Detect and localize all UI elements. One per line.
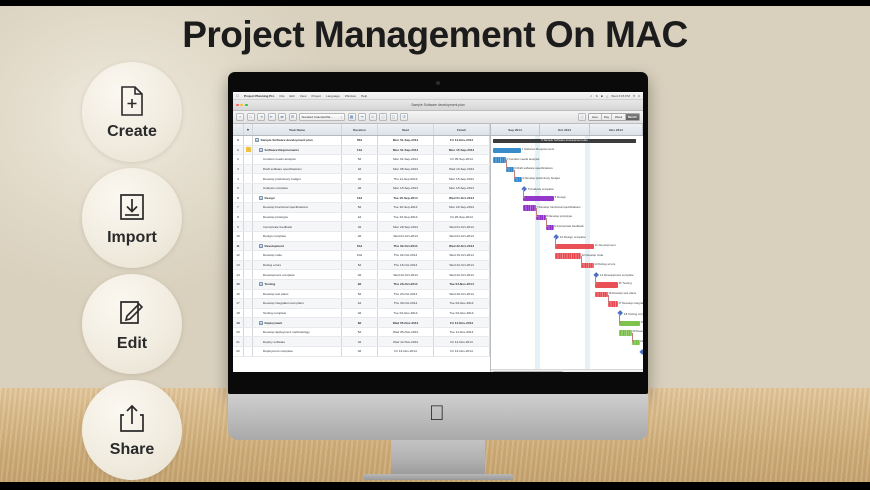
row-task-name[interactable]: Debug errors: [253, 261, 342, 270]
table-row[interactable]: 11-Development15dThu 02-Oct-2014Wed 22-O…: [233, 242, 490, 252]
row-duration[interactable]: 0d: [342, 184, 378, 193]
volume-icon[interactable]: ♫: [590, 94, 592, 98]
refresh-icon[interactable]: ↺: [400, 113, 408, 121]
row-duration[interactable]: 0d: [342, 309, 378, 318]
gantt-bar-label: 8 Develop prototype: [546, 214, 572, 218]
row-start[interactable]: Thu 23-Oct-2014: [378, 280, 434, 289]
row-duration[interactable]: 3d: [342, 165, 378, 174]
row-duration[interactable]: 5d: [342, 328, 378, 337]
row-id: 10: [233, 232, 244, 241]
row-duration[interactable]: 11d: [342, 146, 378, 155]
action-share[interactable]: Share: [82, 380, 182, 480]
timescale-segmented-control[interactable]: Hour Day Week Month: [588, 113, 640, 121]
letterbox-bottom: [0, 482, 870, 490]
disclosure-toggle-icon[interactable]: -: [259, 321, 263, 325]
menubar-app-name[interactable]: Project Planning Pro: [244, 94, 274, 98]
row-start[interactable]: Tue 16-Sep-2014: [378, 203, 434, 212]
row-duration[interactable]: 4d: [342, 299, 378, 308]
table-row[interactable]: 13Debug errors5dThu 16-Oct-2014Wed 22-Oc…: [233, 261, 490, 271]
row-start[interactable]: Tue 23-Sep-2014: [378, 213, 434, 222]
camera-icon: [436, 81, 440, 85]
table-row[interactable]: 6-Design12dTue 16-Sep-2014Wed 01-Oct-201…: [233, 194, 490, 204]
menu-window[interactable]: Window: [345, 94, 356, 98]
disclosure-toggle-icon[interactable]: -: [259, 148, 263, 152]
gantt-bar-label: 1 Software Requirements: [522, 147, 555, 151]
apple-menu-icon[interactable]: : [236, 94, 239, 98]
calendar-select[interactable]: Standard Calendar/Da... ⋮: [299, 113, 345, 121]
row-duration[interactable]: 8d: [342, 318, 378, 327]
search-icon[interactable]: ⚲: [633, 94, 635, 98]
row-id: 22: [233, 347, 244, 356]
row-finish[interactable]: Wed 10-Sep-2014: [434, 165, 490, 174]
table-row[interactable]: 20Develop deployment methodology5dWed 05…: [233, 328, 490, 338]
timeline-oct-2014: Oct 2014: [540, 124, 590, 135]
row-duration[interactable]: 3d: [342, 222, 378, 231]
row-task-name[interactable]: Develop deployment methodology: [253, 328, 342, 337]
row-indicator: [244, 347, 253, 356]
mac-menubar:  Project Planning Pro File Edit View Pr…: [233, 92, 643, 100]
menu-view[interactable]: View: [300, 94, 307, 98]
gantt-bar-label: 9 Incorporate feedback: [554, 224, 584, 228]
note-icon[interactable]: ▯: [390, 113, 398, 121]
gantt-bar-label: 16 Develop test plans: [608, 291, 636, 295]
action-label: Import: [107, 229, 157, 247]
row-id: 0: [233, 136, 244, 145]
gantt-summary-bar[interactable]: 19 Deployment: [619, 321, 640, 326]
row-start[interactable]: Wed 12-Nov-2014: [378, 337, 434, 346]
row-duration[interactable]: 15d: [342, 242, 378, 251]
row-finish[interactable]: Tue 11-Nov-2014: [434, 328, 490, 337]
row-finish[interactable]: Fri 05-Sep-2014: [434, 155, 490, 164]
column-finish[interactable]: Finish: [434, 124, 490, 135]
row-finish[interactable]: Fri 14-Nov-2014: [434, 347, 490, 356]
export-icon[interactable]: ➞: [358, 113, 366, 121]
row-start[interactable]: Wed 01-Oct-2014: [378, 232, 434, 241]
gantt-dependency-link: [555, 237, 557, 246]
weekend-shading: [535, 136, 540, 372]
menu-language[interactable]: Language: [326, 94, 340, 98]
table-row[interactable]: 10Design complete0dWed 01-Oct-2014Wed 01…: [233, 232, 490, 242]
app-toolbar: + □ ⇥ ⇤ ⇄ ⚙ Standard Calendar/Da... ⋮ ▦ …: [233, 111, 643, 124]
row-id: 11: [233, 242, 244, 251]
row-start[interactable]: Mon 01-Sep-2014: [378, 146, 434, 155]
zoom-info-icon[interactable]: ⓘ: [578, 113, 586, 121]
row-start[interactable]: Tue 04-Nov-2014: [378, 309, 434, 318]
row-duration[interactable]: 3d: [342, 174, 378, 183]
column-id: [233, 124, 244, 135]
row-task-name[interactable]: Conduct needs analysis: [253, 155, 342, 164]
row-start[interactable]: Wed 22-Oct-2014: [378, 270, 434, 279]
row-id: 15: [233, 280, 244, 289]
row-task-name[interactable]: Deploy software: [253, 337, 342, 346]
row-start[interactable]: Thu 23-Oct-2014: [378, 290, 434, 299]
row-task-name[interactable]: Development complete: [253, 270, 342, 279]
menu-icon[interactable]: ≡: [638, 94, 640, 98]
gantt-summary-bar[interactable]: 1 Software Requirements: [493, 148, 521, 153]
timescale-week[interactable]: Week: [612, 114, 625, 120]
column-indicator: ⚑: [244, 124, 253, 135]
gantt-milestone[interactable]: [639, 349, 643, 355]
row-task-name[interactable]: -Sample Software development plan: [253, 136, 342, 145]
info-icon[interactable]: ⓘ: [379, 113, 387, 121]
row-id: 5: [233, 184, 244, 193]
row-indicator: [244, 136, 253, 145]
timescale-hour[interactable]: Hour: [589, 114, 601, 120]
row-indicator: [244, 309, 253, 318]
row-start[interactable]: Thu 02-Oct-2014: [378, 251, 434, 260]
row-finish[interactable]: Fri 14-Nov-2014: [434, 136, 490, 145]
row-finish[interactable]: Wed 22-Oct-2014: [434, 242, 490, 251]
imac-chin: : [228, 394, 648, 440]
action-create[interactable]: Create: [82, 62, 182, 162]
row-task-name[interactable]: Incorporate feedback: [253, 222, 342, 231]
row-finish[interactable]: Mon 15-Sep-2014: [434, 146, 490, 155]
gantt-bar-label: 4 Develop preliminary budget: [522, 176, 560, 180]
table-row[interactable]: 7Develop functional specifications5dTue …: [233, 203, 490, 213]
row-start[interactable]: Mon 01-Sep-2014: [378, 155, 434, 164]
table-row[interactable]: 4Develop preliminary budget3dThu 11-Sep-…: [233, 174, 490, 184]
gantt-bar-label: 17 Develop integration test plans: [618, 301, 643, 305]
row-finish[interactable]: Wed 29-Oct-2014: [434, 290, 490, 299]
row-start[interactable]: Wed 05-Nov-2014: [378, 328, 434, 337]
gantt-bar-label: 12 Develop code: [582, 253, 604, 257]
gantt-summary-bar[interactable]: 0 Sample Software development plan: [493, 139, 636, 143]
row-task-name[interactable]: Draft software specifications: [253, 165, 342, 174]
action-import[interactable]: Import: [82, 168, 182, 268]
gantt-body[interactable]: 0 Sample Software development plan1 Soft…: [491, 136, 643, 372]
row-task-name[interactable]: -Design: [253, 194, 342, 203]
row-indicator: [244, 203, 253, 212]
action-label: Share: [110, 441, 154, 459]
row-duration[interactable]: 0d: [342, 347, 378, 356]
row-finish[interactable]: Fri 26-Sep-2014: [434, 213, 490, 222]
gantt-bar-label: 19 Deployment: [640, 320, 643, 324]
row-id: 3: [233, 165, 244, 174]
gantt-dependency-link: [595, 276, 597, 285]
table-row[interactable]: 17Develop integration test plans4dThu 30…: [233, 299, 490, 309]
row-finish[interactable]: Wed 01-Oct-2014: [434, 222, 490, 231]
row-indicator: [244, 337, 253, 346]
gantt-bar-label: 7 Develop functional specifications: [536, 205, 580, 209]
row-duration[interactable]: 5d: [342, 203, 378, 212]
app-workspace: ⚑ Task Name Duration Start Finish 0-Samp…: [233, 124, 643, 372]
table-row[interactable]: 12Develop code10dThu 02-Oct-2014Wed 15-O…: [233, 251, 490, 261]
calendar-select-value: Standard Calendar/Da...: [302, 115, 333, 119]
gantt-task-bar[interactable]: 20 Develop deployment methodology: [619, 330, 632, 335]
indent-icon[interactable]: ⇥: [257, 113, 265, 121]
gantt-dependency-link: [632, 333, 634, 342]
row-start[interactable]: Tue 16-Sep-2014: [378, 194, 434, 203]
link-icon[interactable]: ⇄: [278, 113, 286, 121]
row-start[interactable]: Thu 16-Oct-2014: [378, 261, 434, 270]
menu-project[interactable]: Project: [311, 94, 321, 98]
row-indicator: [244, 184, 253, 193]
gantt-bar-label: 15 Testing: [618, 281, 631, 285]
row-start[interactable]: Thu 02-Oct-2014: [378, 242, 434, 251]
row-duration[interactable]: 12d: [342, 194, 378, 203]
row-task-name[interactable]: Analysis complete: [253, 184, 342, 193]
timescale-day[interactable]: Day: [602, 114, 613, 120]
row-indicator: [244, 270, 253, 279]
row-duration[interactable]: 10d: [342, 251, 378, 260]
row-id: 14: [233, 270, 244, 279]
row-task-name[interactable]: Develop integration test plans: [253, 299, 342, 308]
table-row[interactable]: 5Analysis complete0dMon 15-Sep-2014Mon 1…: [233, 184, 490, 194]
gantt-bar-label: 14 Development complete: [600, 273, 634, 277]
settings-gear-icon[interactable]: ⚙: [289, 113, 297, 121]
row-start[interactable]: Thu 11-Sep-2014: [378, 174, 434, 183]
row-id: 17: [233, 299, 244, 308]
row-duration[interactable]: 4d: [342, 213, 378, 222]
outdent-icon[interactable]: ⇤: [268, 113, 276, 121]
row-finish[interactable]: Wed 01-Oct-2014: [434, 194, 490, 203]
row-indicator: [244, 165, 253, 174]
disclosure-toggle-icon[interactable]: -: [259, 244, 263, 248]
row-id: 19: [233, 318, 244, 327]
row-task-name[interactable]: Develop preliminary budget: [253, 174, 342, 183]
row-task-name[interactable]: Design complete: [253, 232, 342, 241]
row-id: 9: [233, 222, 244, 231]
page-title: Project Management On MAC: [0, 14, 870, 56]
row-start[interactable]: Mon 01-Sep-2014: [378, 136, 434, 145]
row-indicator: [244, 155, 253, 164]
row-finish[interactable]: Fri 14-Nov-2014: [434, 337, 490, 346]
gantt-bar-label: 18 Testing complete: [624, 312, 643, 316]
imac-bezel:  Project Planning Pro File Edit View Pr…: [228, 72, 648, 394]
menu-edit[interactable]: Edit: [289, 94, 294, 98]
row-id: 13: [233, 261, 244, 270]
imac-mockup:  Project Planning Pro File Edit View Pr…: [228, 72, 648, 480]
row-id: 4: [233, 174, 244, 183]
column-start[interactable]: Start: [378, 124, 434, 135]
gantt-bar-label: 5 Analysis complete: [528, 187, 554, 191]
window-titlebar: Sample Software development plan: [233, 100, 643, 111]
row-task-name[interactable]: -Deployment: [253, 318, 342, 327]
table-row[interactable]: 3Draft software specifications3dMon 08-S…: [233, 165, 490, 175]
gantt-task-bar[interactable]: 2 Conduct needs analysis: [493, 157, 506, 162]
row-start[interactable]: Mon 15-Sep-2014: [378, 184, 434, 193]
table-header: ⚑ Task Name Duration Start Finish: [233, 124, 490, 136]
table-row[interactable]: 16Develop test plans5dThu 23-Oct-2014Wed…: [233, 290, 490, 300]
row-indicator: [244, 242, 253, 251]
row-id: 16: [233, 290, 244, 299]
row-indicator: [244, 146, 253, 155]
bluetooth-icon[interactable]: ⇅: [595, 94, 598, 98]
table-row[interactable]: 1-Software Requirements11dMon 01-Sep-201…: [233, 146, 490, 156]
action-label: Edit: [117, 335, 147, 353]
gantt-chart: Sep 2014 Oct 2014 Nov 2014 0 Sample Soft…: [491, 124, 643, 372]
row-duration[interactable]: 0d: [342, 270, 378, 279]
action-edit[interactable]: Edit: [82, 274, 182, 374]
row-indicator: [244, 194, 253, 203]
row-id: 21: [233, 337, 244, 346]
row-task-name[interactable]: Develop prototype: [253, 213, 342, 222]
row-start[interactable]: Wed 05-Nov-2014: [378, 318, 434, 327]
gantt-bar-label: 3 Draft software specifications: [514, 166, 553, 170]
row-indicator: [244, 174, 253, 183]
row-indicator: [244, 280, 253, 289]
row-id: 8: [233, 213, 244, 222]
imac-stand-foot: [363, 474, 513, 480]
row-finish[interactable]: Tue 04-Nov-2014: [434, 299, 490, 308]
gantt-timeline-header: Sep 2014 Oct 2014 Nov 2014: [491, 124, 643, 136]
gantt-bar-label: 10 Design complete: [560, 235, 586, 239]
row-id: 1: [233, 146, 244, 155]
table-row[interactable]: 18Testing complete0dTue 04-Nov-2014Tue 0…: [233, 309, 490, 319]
row-finish[interactable]: Wed 15-Oct-2014: [434, 251, 490, 260]
gantt-dependency-link: [581, 256, 583, 265]
row-duration[interactable]: 3d: [342, 337, 378, 346]
gantt-summary-bar[interactable]: 6 Design: [523, 196, 554, 201]
row-finish[interactable]: Mon 15-Sep-2014: [434, 174, 490, 183]
row-duration[interactable]: 5d: [342, 155, 378, 164]
table-row[interactable]: 9Incorporate feedback3dMon 29-Sep-2014We…: [233, 222, 490, 232]
row-start[interactable]: Mon 29-Sep-2014: [378, 222, 434, 231]
apple-logo-icon: : [429, 404, 447, 426]
row-finish[interactable]: Fri 14-Nov-2014: [434, 318, 490, 327]
row-indicator: [244, 318, 253, 327]
row-finish[interactable]: Wed 22-Oct-2014: [434, 270, 490, 279]
gantt-bar-label: 6 Design: [555, 195, 566, 199]
table-row[interactable]: 8Develop prototype4dTue 23-Sep-2014Fri 2…: [233, 213, 490, 223]
row-id: 18: [233, 309, 244, 318]
row-task-name[interactable]: Develop test plans: [253, 290, 342, 299]
table-row[interactable]: 0-Sample Software development plan55dMon…: [233, 136, 490, 146]
table-row[interactable]: 19-Deployment8dWed 05-Nov-2014Fri 14-Nov…: [233, 318, 490, 328]
task-table: ⚑ Task Name Duration Start Finish 0-Samp…: [233, 124, 491, 372]
row-indicator: [244, 299, 253, 308]
row-id: 12: [233, 251, 244, 260]
row-finish[interactable]: Mon 15-Sep-2014: [434, 184, 490, 193]
table-row[interactable]: 2Conduct needs analysis5dMon 01-Sep-2014…: [233, 155, 490, 165]
row-start[interactable]: Fri 14-Nov-2014: [378, 347, 434, 356]
row-finish[interactable]: Mon 22-Sep-2014: [434, 203, 490, 212]
gantt-bar-label: 11 Development: [595, 243, 616, 247]
chevron-down-icon: ⋮: [340, 115, 343, 119]
row-duration[interactable]: 55d: [342, 136, 378, 145]
table-row[interactable]: 14Development complete0dWed 22-Oct-2014W…: [233, 270, 490, 280]
row-duration[interactable]: 5d: [342, 290, 378, 299]
row-task-name[interactable]: -Testing: [253, 280, 342, 289]
add-task-icon[interactable]: +: [236, 113, 244, 121]
gantt-dependency-link: [619, 314, 621, 323]
menubar-clock[interactable]: Wed 3:15 PM: [611, 94, 630, 98]
disclosure-toggle-icon[interactable]: -: [259, 196, 263, 200]
row-id: 7: [233, 203, 244, 212]
row-indicator: [244, 290, 253, 299]
row-indicator: [244, 213, 253, 222]
gantt-dependency-link: [514, 170, 516, 179]
row-id: 20: [233, 328, 244, 337]
gantt-bar-label: 13 Debug errors: [594, 262, 615, 266]
menu-help[interactable]: Help: [361, 94, 367, 98]
timescale-month[interactable]: Month: [626, 114, 639, 120]
document-plus-icon: [119, 83, 145, 119]
resource-icon[interactable]: ☺: [369, 113, 377, 121]
gantt-summary-bar[interactable]: 15 Testing: [595, 282, 618, 287]
grid-icon[interactable]: ▦: [348, 113, 356, 121]
gantt-dependency-link: [608, 295, 610, 304]
row-finish[interactable]: Wed 22-Oct-2014: [434, 261, 490, 270]
gantt-horizontal-scrollbar[interactable]: [491, 369, 643, 372]
table-row[interactable]: 22Deployment complete0dFri 14-Nov-2014Fr…: [233, 347, 490, 357]
pencil-square-icon: [118, 295, 146, 331]
row-finish[interactable]: Tue 04-Nov-2014: [434, 280, 490, 289]
table-row[interactable]: 15-Testing9dThu 23-Oct-2014Tue 04-Nov-20…: [233, 280, 490, 290]
delete-task-icon[interactable]: □: [247, 113, 255, 121]
download-tray-icon: [118, 189, 146, 225]
share-up-arrow-icon: [118, 401, 146, 437]
gantt-dependency-link: [546, 218, 548, 227]
gantt-dependency-link: [523, 189, 525, 198]
row-task-name[interactable]: -Development: [253, 242, 342, 251]
action-label: Create: [107, 123, 157, 141]
timeline-sep-2014: Sep 2014: [491, 124, 540, 135]
row-id: 6: [233, 194, 244, 203]
gantt-bar-label: 21 Deploy software: [640, 339, 643, 343]
row-task-name[interactable]: Testing complete: [253, 309, 342, 318]
table-body: 0-Sample Software development plan55dMon…: [233, 136, 490, 357]
gantt-summary-bar[interactable]: 11 Development: [555, 244, 594, 249]
disclosure-toggle-icon[interactable]: -: [255, 138, 259, 142]
battery-icon[interactable]: ■: [601, 94, 603, 98]
menubar-status-area: ♫ ⇅ ■ △ Wed 3:15 PM ⚲ ≡: [590, 94, 640, 98]
promotional-banner: Project Management On MAC Create I: [0, 0, 870, 490]
row-start[interactable]: Mon 08-Sep-2014: [378, 165, 434, 174]
row-task-name[interactable]: -Software Requirements: [253, 146, 342, 155]
gantt-task-bar[interactable]: 12 Develop code: [555, 253, 581, 258]
row-task-name[interactable]: Develop functional specifications: [253, 203, 342, 212]
imac-stand-neck: [391, 440, 485, 474]
menu-file[interactable]: File: [279, 94, 284, 98]
gantt-bar-label: 2 Conduct needs analysis: [506, 157, 539, 161]
gantt-bar-label: 0 Sample Software development plan: [493, 138, 636, 142]
row-id: 2: [233, 155, 244, 164]
row-indicator: [244, 261, 253, 270]
row-task-name[interactable]: Deployment complete: [253, 347, 342, 356]
row-indicator: [244, 251, 253, 260]
row-indicator: [244, 222, 253, 231]
timeline-nov-2014: Nov 2014: [590, 124, 643, 135]
row-finish[interactable]: Wed 01-Oct-2014: [434, 232, 490, 241]
disclosure-toggle-icon[interactable]: -: [259, 282, 263, 286]
table-row[interactable]: 21Deploy software3dWed 12-Nov-2014Fri 14…: [233, 337, 490, 347]
column-task-name[interactable]: Task Name: [253, 124, 342, 135]
gantt-dependency-link: [506, 160, 508, 169]
gantt-task-bar[interactable]: 7 Develop functional specifications: [523, 205, 536, 210]
row-duration[interactable]: 9d: [342, 280, 378, 289]
action-list: Create Import Edit: [82, 62, 186, 486]
imac-screen:  Project Planning Pro File Edit View Pr…: [233, 92, 643, 372]
row-indicator: [244, 328, 253, 337]
row-indicator: [244, 232, 253, 241]
row-task-name[interactable]: Develop code: [253, 251, 342, 260]
letterbox-top: [0, 0, 870, 6]
column-duration[interactable]: Duration: [342, 124, 378, 135]
row-duration[interactable]: 5d: [342, 261, 378, 270]
row-duration[interactable]: 0d: [342, 232, 378, 241]
row-start[interactable]: Thu 30-Oct-2014: [378, 299, 434, 308]
gantt-task-bar[interactable]: 16 Develop test plans: [595, 292, 608, 297]
window-title: Sample Software development plan: [233, 103, 643, 107]
wifi-icon[interactable]: △: [606, 94, 608, 98]
gantt-dependency-link: [536, 208, 538, 217]
row-finish[interactable]: Tue 04-Nov-2014: [434, 309, 490, 318]
